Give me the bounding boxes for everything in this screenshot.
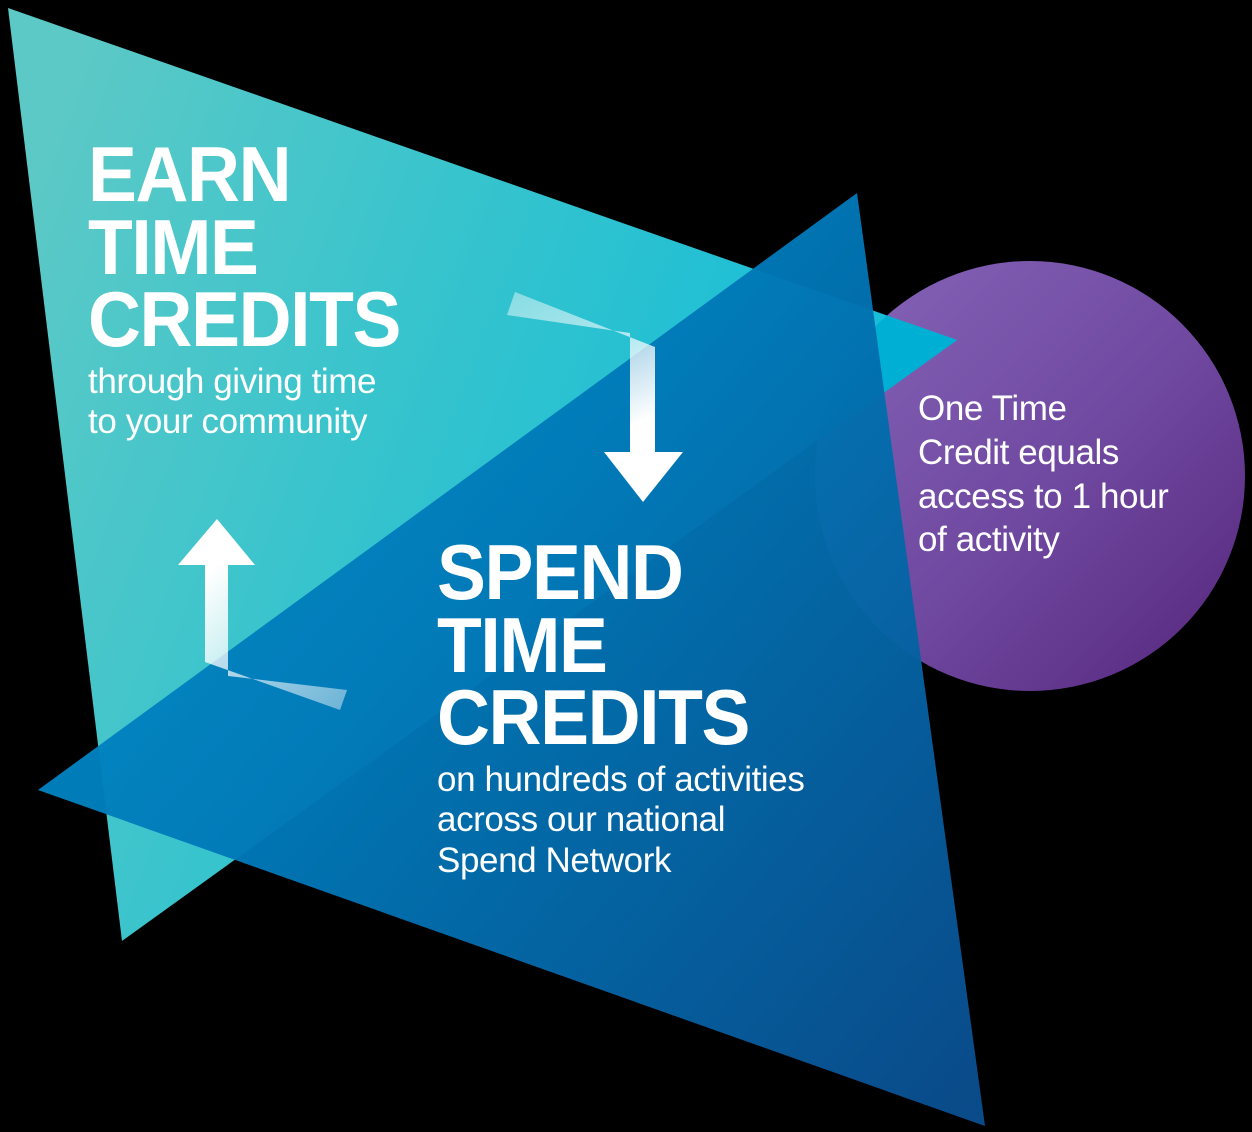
spend-headline: SPEND TIME CREDITS [437, 536, 879, 754]
earn-subtitle-line-1: through giving time [88, 362, 518, 403]
earn-headline-line-2: TIME [88, 211, 492, 284]
spend-subtitle-line-1: on hundreds of activities [437, 760, 907, 801]
earn-subtitle-line-2: to your community [88, 402, 518, 443]
one-time-credit-callout: One Time Credit equals access to 1 hour … [918, 387, 1238, 562]
earn-subtitle: through giving time to your community [88, 362, 518, 443]
circle-callout-line-3: access to 1 hour [918, 475, 1238, 519]
circle-callout-line-1: One Time [918, 387, 1238, 431]
spend-subtitle-line-2: across our national [437, 800, 907, 841]
spend-subtitle-line-3: Spend Network [437, 841, 907, 882]
spend-headline-line-1: SPEND [437, 536, 879, 609]
circle-callout-line-2: Credit equals [918, 431, 1238, 475]
earn-time-credits-block: EARN TIME CREDITS through giving time to… [88, 138, 518, 443]
earn-headline: EARN TIME CREDITS [88, 138, 492, 356]
earn-headline-line-3: CREDITS [88, 283, 492, 356]
spend-time-credits-block: SPEND TIME CREDITS on hundreds of activi… [437, 536, 907, 881]
circle-callout-line-4: of activity [918, 518, 1238, 562]
spend-headline-line-2: TIME [437, 609, 879, 682]
spend-subtitle: on hundreds of activities across our nat… [437, 760, 907, 882]
spend-headline-line-3: CREDITS [437, 681, 879, 754]
circle-callout-text: One Time Credit equals access to 1 hour … [918, 387, 1238, 562]
infographic-canvas: EARN TIME CREDITS through giving time to… [0, 0, 1252, 1132]
earn-headline-line-1: EARN [88, 138, 492, 211]
